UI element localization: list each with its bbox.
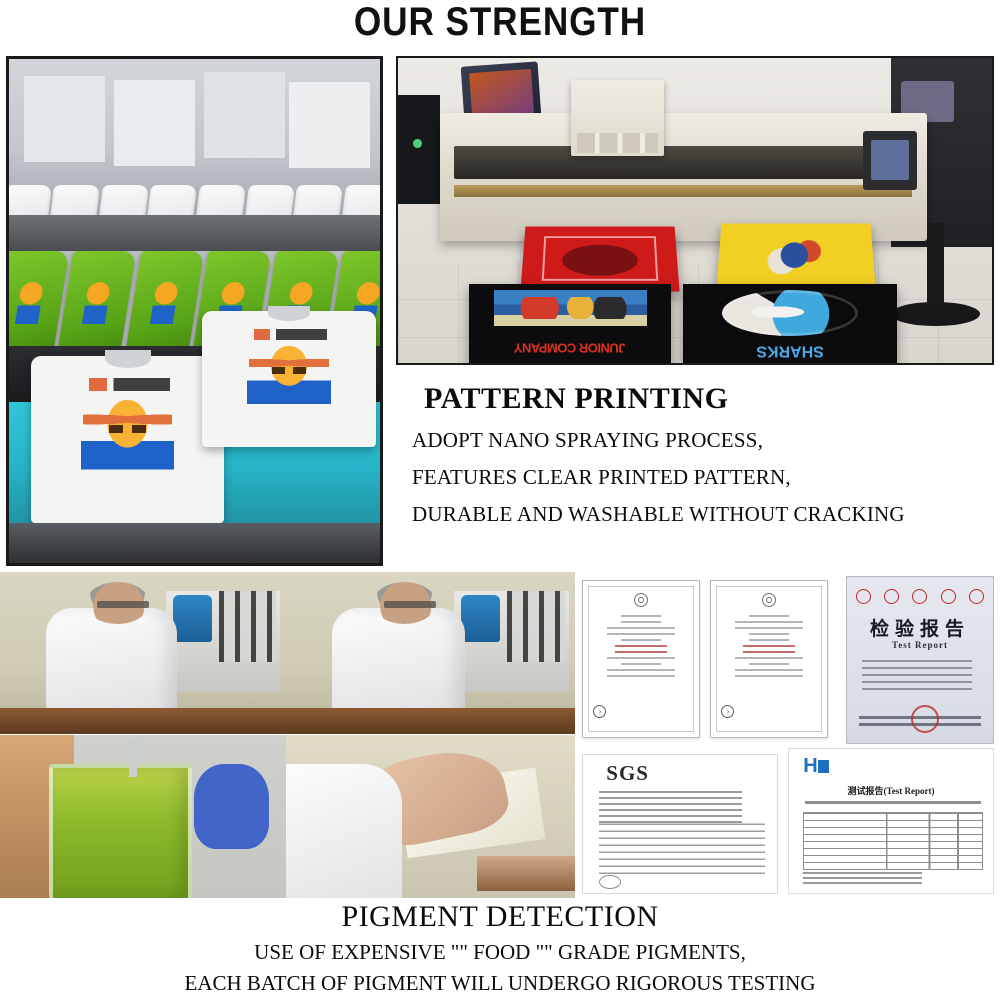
work-surface xyxy=(477,856,575,892)
printed-shirt-sharks: SHARKS xyxy=(683,284,897,365)
lab-bench xyxy=(286,708,575,734)
printed-tshirt-front xyxy=(31,356,224,522)
page-title: OUR STRENGTH xyxy=(60,0,940,48)
green-pallet xyxy=(124,251,204,357)
pattern-printing-heading: PATTERN PRINTING xyxy=(396,382,996,416)
printer-touch-panel xyxy=(863,131,917,190)
h-report-notes xyxy=(803,872,972,887)
certificates-panel: › › 检验报告 Test Report xyxy=(578,572,1000,898)
safety-glasses-icon xyxy=(97,601,148,607)
cnas-mark-icon xyxy=(969,589,984,604)
certificate-test-report-cn: 检验报告 Test Report xyxy=(846,576,994,744)
green-pallet xyxy=(57,251,137,357)
certificate-iso-cn: › xyxy=(582,580,700,738)
h-report-subheader xyxy=(805,801,980,804)
pigment-detection-heading: PIGMENT DETECTION xyxy=(0,900,1000,934)
pattern-printing-line-1: ADOPT NANO SPRAYING PROCESS, xyxy=(396,428,996,453)
printer-body xyxy=(440,113,927,241)
safety-glasses-icon xyxy=(384,601,436,607)
lab-mixing-machine xyxy=(166,591,280,691)
sharks-print-text: SHARKS xyxy=(696,338,884,359)
a-mark-icon xyxy=(884,589,899,604)
sharks-artwork xyxy=(722,290,859,336)
h-logo-letter: H xyxy=(803,755,817,777)
test-report-title-en: Test Report xyxy=(847,640,993,650)
pigment-detection-text-block: PIGMENT DETECTION USE OF EXPENSIVE "" FO… xyxy=(0,900,1000,996)
printed-shirt-yellow xyxy=(716,223,876,288)
bull-mascot-print xyxy=(81,400,174,480)
seal-mark-icon xyxy=(941,589,956,604)
photo-screen-printing-conveyor xyxy=(6,56,383,566)
bull-mascot-print xyxy=(247,346,331,411)
photo-hand-holding-sample xyxy=(286,735,575,898)
stirring-rod xyxy=(129,738,138,777)
conveyor-base xyxy=(9,523,380,563)
printer-gantry-rail xyxy=(454,146,912,179)
report-sgs: SGS xyxy=(582,754,778,894)
h-report-results-table xyxy=(803,812,983,870)
photo-dtg-flatbed-printer: JUNIOR COMPANY SHARKS xyxy=(396,56,994,365)
sgs-results-table xyxy=(599,819,766,874)
pattern-printing-line-2: FEATURES CLEAR PRINTED PATTERN, xyxy=(396,465,996,490)
certification-mark-row xyxy=(856,587,984,607)
report-h-test: H 测试报告(Test Report) xyxy=(788,748,994,894)
printed-shirt-red xyxy=(520,226,680,291)
sgs-logo: SGS xyxy=(606,761,649,786)
lab-mixing-machine xyxy=(454,591,570,691)
lab-bench xyxy=(0,708,286,734)
swirl-mark-icon xyxy=(912,589,927,604)
pattern-printing-line-3: DURABLE AND WASHABLE WITHOUT CRACKING xyxy=(396,502,996,527)
printer-print-head xyxy=(571,80,664,157)
printer-lower-rail xyxy=(454,185,912,198)
tshirt-chest-logo xyxy=(89,378,170,391)
printed-tshirt-back xyxy=(202,311,376,447)
photo-lab-technician-right xyxy=(286,572,575,734)
test-report-fields xyxy=(862,660,982,695)
pigment-detection-line-1: USE OF EXPENSIVE "" FOOD "" GRADE PIGMEN… xyxy=(0,940,1000,965)
lab-coat-sleeve xyxy=(286,764,402,898)
printer-stand-pole xyxy=(927,223,945,315)
certificate-iso-en: › xyxy=(710,580,828,738)
certificate-body-text xyxy=(725,615,813,681)
pigment-detection-line-2: EACH BATCH OF PIGMENT WILL UNDERGO RIGOR… xyxy=(0,971,1000,996)
pattern-printing-text-block: PATTERN PRINTING ADOPT NANO SPRAYING PRO… xyxy=(396,382,996,527)
h-logo: H xyxy=(803,755,828,778)
certificate-body-text xyxy=(597,615,685,681)
photo-green-pigment-beaker xyxy=(0,735,286,898)
junior-company-print-text: JUNIOR COMPANY xyxy=(481,331,659,356)
sgs-stamp-icon xyxy=(599,875,621,889)
ccc-mark-icon xyxy=(856,589,871,604)
h-report-title: 测试报告(Test Report) xyxy=(789,784,993,797)
tshirt-chest-logo xyxy=(254,329,327,340)
promo-page: OUR STRENGTH xyxy=(0,0,1000,1000)
glass-beaker xyxy=(49,764,192,898)
conveyor-frame-band xyxy=(9,215,380,250)
photo-lab-technician-left xyxy=(0,572,286,734)
junior-company-artwork xyxy=(494,290,647,326)
printed-shirt-junior-company: JUNIOR COMPANY xyxy=(469,284,671,365)
test-report-title-cn: 检验报告 xyxy=(847,614,993,641)
printer-control-box xyxy=(398,95,440,205)
